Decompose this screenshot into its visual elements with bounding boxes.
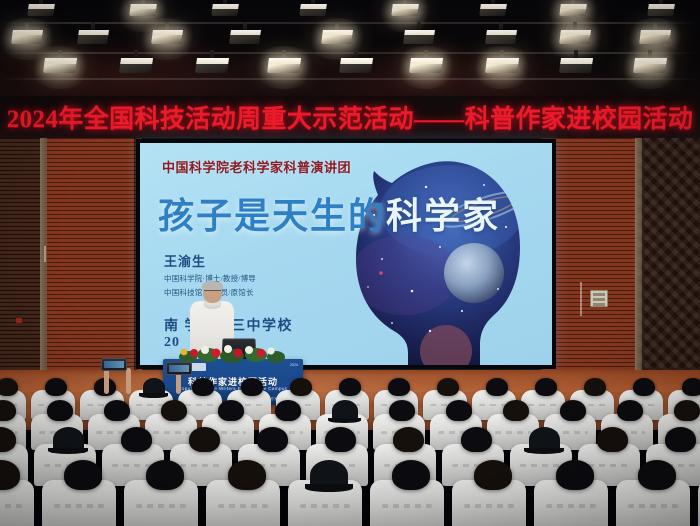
audience-member-head	[45, 378, 67, 396]
stage-light	[299, 4, 327, 16]
audience-member-head	[584, 378, 606, 396]
audience-member-head	[597, 427, 628, 452]
audience-member-head	[146, 460, 184, 490]
audience-member-head	[64, 460, 102, 490]
audience-member-head	[665, 427, 696, 452]
stage-light	[485, 58, 519, 73]
audience-member-head	[218, 400, 244, 421]
stage-light	[129, 4, 157, 16]
audience-seating-area	[0, 392, 700, 526]
audience-member-head	[290, 378, 312, 396]
stage-light	[77, 30, 109, 44]
audience-member-head	[161, 400, 187, 421]
wall-panel-right-dark	[636, 138, 700, 372]
audience-phone	[166, 362, 192, 375]
stage-light	[229, 30, 261, 44]
audience-member-head	[392, 460, 430, 490]
audience-member-head	[633, 378, 655, 396]
podium-corner-text: 2024	[290, 363, 298, 367]
audience-member-head	[446, 400, 472, 421]
audience-member-head	[393, 427, 424, 452]
audience-member-head	[228, 460, 266, 490]
slide-title-part2: 科学家	[386, 196, 500, 236]
audience-member-head	[310, 460, 348, 490]
audience-member-head	[0, 378, 18, 396]
stage-light	[485, 30, 517, 44]
truss-bar-bottom	[0, 78, 700, 80]
door-handle-right	[580, 282, 582, 316]
stage-light	[43, 58, 77, 73]
stage-light	[321, 30, 353, 44]
audience-member-head	[339, 378, 361, 396]
door-handle-left	[44, 246, 46, 262]
stage-light	[391, 4, 419, 16]
stage-light	[479, 4, 507, 16]
ceiling-lighting-truss	[0, 0, 700, 96]
audience-member-head	[461, 427, 492, 452]
stage-light	[409, 58, 443, 73]
slide-speaker-name: 王渝生	[164, 251, 256, 270]
audience-member-head	[189, 427, 220, 452]
stage-light	[267, 58, 301, 73]
audience-member-head	[104, 400, 130, 421]
audience-member-head	[257, 427, 288, 452]
audience-member-head	[503, 400, 529, 421]
stage-light	[559, 4, 587, 16]
audience-phone	[101, 358, 127, 371]
auditorium-photo: 2024年全国科技活动周重大示范活动——科普作家进校园活动	[0, 0, 700, 526]
audience-member-head	[0, 400, 16, 421]
stage-light	[27, 4, 55, 16]
audience-member-head	[474, 460, 512, 490]
wall-panel-left-wood	[46, 138, 142, 372]
stage-light	[559, 58, 593, 73]
audience-member-head	[556, 460, 594, 490]
stage-light	[639, 30, 671, 44]
stage-light	[151, 30, 183, 44]
slide-organization-header: 中国科学院老科学家科普演讲团	[162, 157, 351, 176]
slide-title-part1: 孩子是天生的	[158, 196, 386, 236]
stage-light	[211, 4, 239, 16]
truss-bar-middle	[0, 52, 700, 54]
audience-member-head	[47, 400, 73, 421]
stage-light	[559, 30, 591, 44]
wall-control-plate[interactable]	[590, 290, 608, 307]
audience-member-head	[529, 427, 560, 452]
raised-arm	[126, 368, 131, 394]
raised-arm	[104, 368, 109, 394]
door-frame-right	[635, 138, 642, 372]
audience-member-head	[674, 400, 700, 421]
audience-member-head	[389, 400, 415, 421]
event-headline: 2024年全国科技活动周重大示范活动——科普作家进校园活动	[0, 99, 700, 135]
slide-main-title: 孩子是天生的科学家	[158, 187, 500, 239]
audience-member-head	[275, 400, 301, 421]
audience-member-head	[192, 378, 214, 396]
truss-bar-top	[0, 22, 700, 24]
stage-light	[11, 30, 43, 44]
raised-arm	[176, 372, 181, 394]
audience-member-head	[638, 460, 676, 490]
audience-member-head	[560, 400, 586, 421]
stage-light	[339, 58, 373, 73]
wall-marker-left	[16, 318, 22, 323]
speaker-glasses-icon	[204, 290, 221, 294]
audience-member-head	[241, 378, 263, 396]
audience-member-head	[53, 427, 84, 452]
audience-member-head	[617, 400, 643, 421]
audience-member-head	[143, 378, 165, 396]
audience-member-head	[486, 378, 508, 396]
audience-member-head	[332, 400, 358, 421]
audience-member-head	[388, 378, 410, 396]
audience-member-head	[325, 427, 356, 452]
flower-arrangement	[178, 341, 286, 363]
stage-light	[633, 58, 667, 73]
audience-member-head	[535, 378, 557, 396]
stage-light	[403, 30, 435, 44]
stage-light	[195, 58, 229, 73]
audience-member-head	[121, 427, 152, 452]
stage-light	[119, 58, 153, 73]
audience-member-head	[682, 378, 700, 396]
stage-light	[647, 4, 675, 16]
audience-member-head	[437, 378, 459, 396]
